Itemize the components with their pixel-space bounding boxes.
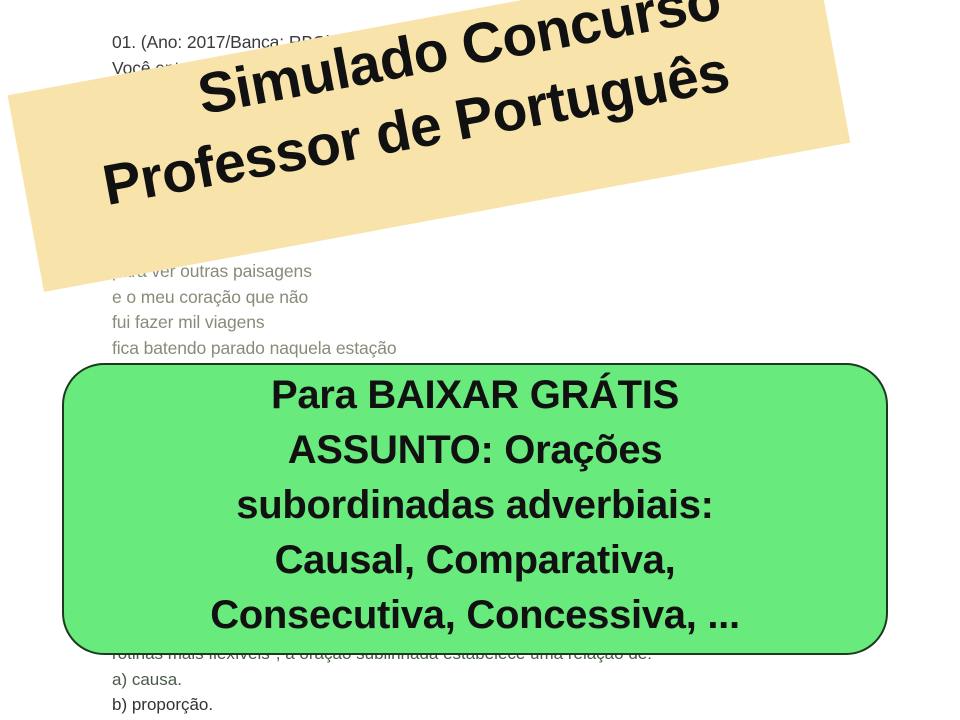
poem-line: fica batendo parado naquela estação xyxy=(112,336,882,362)
poem-line: e o meu coração que não xyxy=(112,285,882,311)
question2-option-b[interactable]: b) proporção. xyxy=(112,692,882,718)
slide-canvas: 01. (Ano: 2017/Banca: RBO) Texto associa… xyxy=(0,0,960,720)
poem-line: para ver outras paisagens xyxy=(112,259,882,285)
poem-line: fui fazer mil viagens xyxy=(112,310,882,336)
download-callout-box[interactable] xyxy=(62,363,888,655)
question2-option-a[interactable]: a) causa. xyxy=(112,667,882,693)
